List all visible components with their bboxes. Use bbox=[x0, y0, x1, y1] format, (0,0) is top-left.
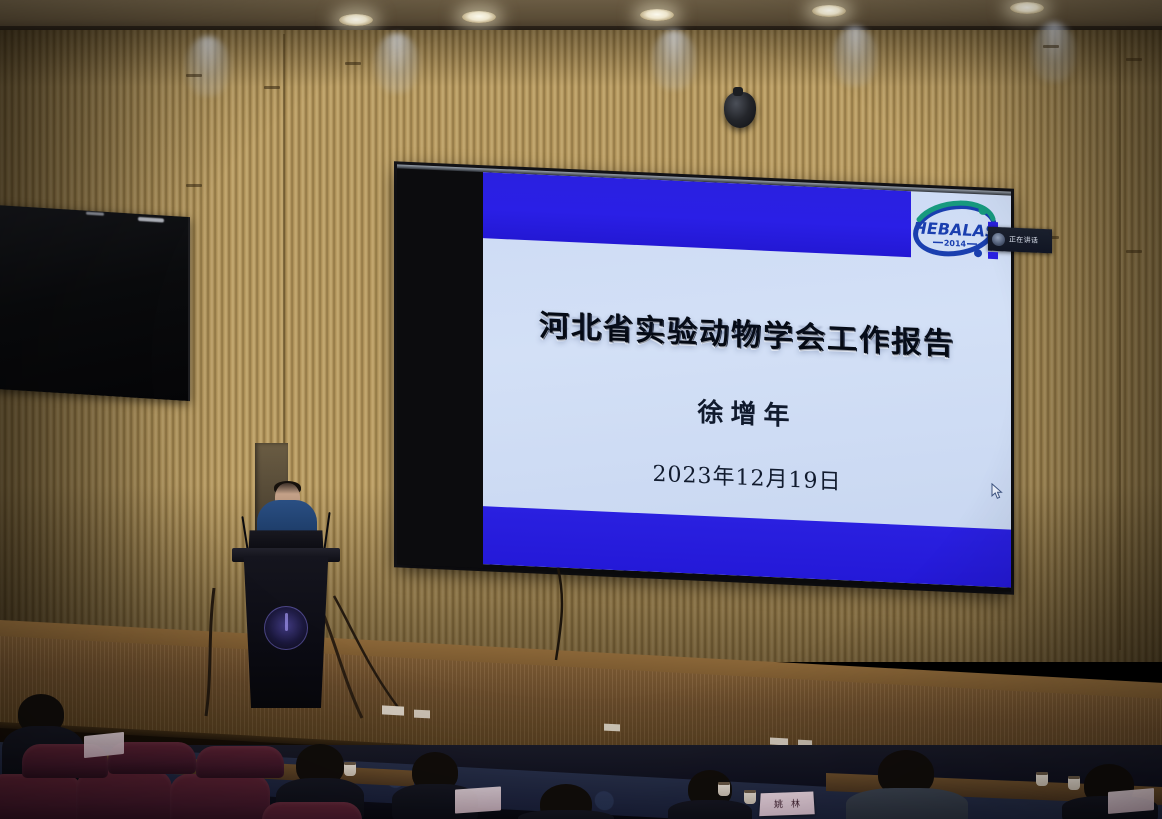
wall-panel-notch bbox=[1043, 45, 1059, 48]
stage-cables bbox=[0, 540, 1162, 750]
wall-panel-notch bbox=[264, 86, 280, 89]
mouse-pointer-icon bbox=[991, 483, 1003, 501]
now-speaking-label: 正在讲话 bbox=[1009, 235, 1038, 246]
wall-panel-notch bbox=[345, 62, 361, 65]
downlight-icon bbox=[462, 11, 496, 23]
participant-avatar-icon bbox=[992, 232, 1005, 246]
downlight-icon bbox=[339, 14, 373, 26]
seat bbox=[170, 774, 270, 819]
attendee bbox=[846, 788, 968, 819]
handout-icon bbox=[455, 786, 501, 813]
hebalas-logo-text: HEBALAS bbox=[914, 218, 997, 241]
seat bbox=[0, 774, 82, 819]
presentation-slide[interactable]: HEBALAS 2014 河北省实验动物学会工作报告 河北省实验动物学会工作报告… bbox=[483, 172, 1011, 588]
seat bbox=[196, 746, 284, 778]
hebalas-logo-year: 2014 bbox=[944, 239, 967, 249]
conference-hall-scene: HEBALAS 2014 河北省实验动物学会工作报告 河北省实验动物学会工作报告… bbox=[0, 0, 1162, 819]
paper-cup-icon bbox=[744, 790, 756, 804]
handout-icon bbox=[84, 732, 124, 758]
paper-cup-icon bbox=[718, 782, 730, 796]
wall-light-reflection bbox=[375, 33, 419, 93]
floor-cable-tape bbox=[414, 710, 430, 719]
now-speaking-badge[interactable]: 正在讲话 bbox=[988, 227, 1052, 254]
slide-title: 河北省实验动物学会工作报告 bbox=[483, 298, 1011, 366]
wall-panel-notch bbox=[1126, 250, 1142, 253]
screen-letterbox-left bbox=[397, 168, 483, 568]
university-crest-icon bbox=[264, 606, 308, 650]
wall-light-reflection bbox=[1032, 22, 1076, 82]
downlight-icon bbox=[640, 9, 674, 21]
wall-display-icon bbox=[0, 205, 190, 401]
wall-panel-notch bbox=[186, 74, 202, 77]
display-glare bbox=[86, 212, 104, 216]
vc-accent-strip bbox=[988, 252, 998, 259]
slide-author: 徐增年 bbox=[483, 382, 1011, 443]
paper-cup-icon bbox=[1068, 776, 1080, 790]
attendee-nameplate: 姚 林 bbox=[759, 791, 814, 816]
wall-panel-notch bbox=[1126, 58, 1142, 61]
floor-cable-tape bbox=[382, 705, 404, 715]
attendee bbox=[518, 810, 614, 819]
paper-cup-icon bbox=[1036, 772, 1048, 786]
wall-panel-notch bbox=[186, 184, 202, 187]
floor-cable-tape bbox=[604, 724, 620, 732]
nameplate-given-name: 林 bbox=[791, 797, 800, 810]
paper-cup-icon bbox=[344, 762, 356, 776]
ceiling-speaker-icon bbox=[724, 92, 756, 128]
nameplate-surname: 姚 bbox=[774, 797, 783, 810]
projection-screen[interactable]: HEBALAS 2014 河北省实验动物学会工作报告 河北省实验动物学会工作报告… bbox=[397, 164, 1011, 591]
seat bbox=[262, 802, 362, 819]
attendee bbox=[668, 800, 752, 819]
display-glare bbox=[138, 217, 164, 223]
handout-icon bbox=[1108, 788, 1154, 814]
wall-light-reflection bbox=[186, 36, 230, 96]
wall-light-reflection bbox=[833, 26, 877, 86]
wall-light-reflection bbox=[652, 30, 696, 90]
downlight-icon bbox=[1010, 2, 1044, 14]
slide-date: 2023年12月19日 bbox=[483, 448, 1011, 504]
downlight-icon bbox=[812, 5, 846, 17]
